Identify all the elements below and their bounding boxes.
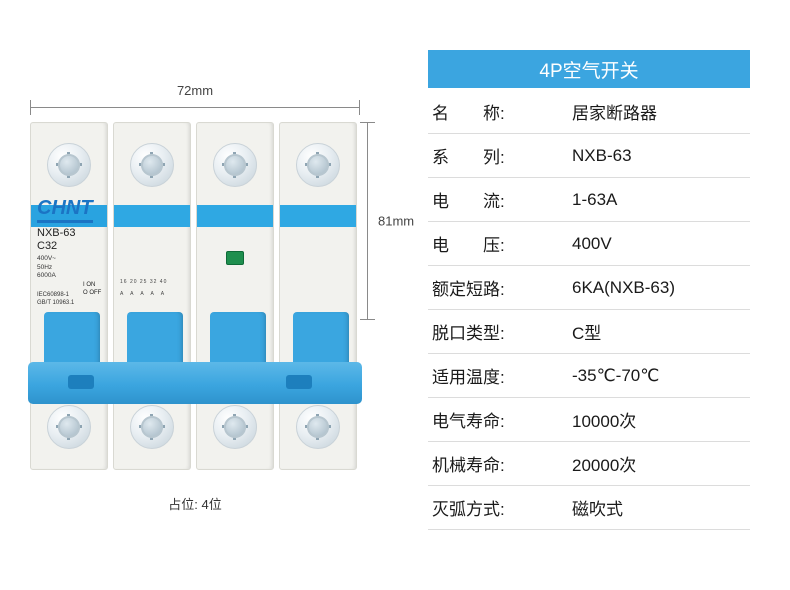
spec-key: 系 列: [428,134,560,178]
lever-tie-bar [28,362,362,404]
screw-cross-bottom-icon [139,414,165,440]
spec-value: 6KA(NXB-63) [560,266,750,310]
height-dimension-line [367,122,368,320]
spec-row: 电气寿命:10000次 [428,398,750,442]
screw-cross-icon [222,152,248,178]
spec-key: 适用温度: [428,354,560,398]
breaker-pole-4 [279,122,357,470]
spec-row: 灭弧方式:磁吹式 [428,486,750,530]
spec-row: 适用温度:-35℃-70℃ [428,354,750,398]
brand-logo-text: CHNT [37,197,93,223]
spec-row: 系 列:NXB-63 [428,134,750,178]
spec-key: 机械寿命: [428,442,560,486]
screw-cross-bottom-icon [222,414,248,440]
spec-row: 名 称:居家断路器 [428,90,750,134]
standards-text: IEC60898-1 GB/T 10963.1 [37,291,74,307]
electrical-specs-text: 400V~ 50Hz 6000A [37,255,56,281]
rating-code: C32 [37,240,76,253]
width-dimension: 72mm [30,100,360,114]
spec-row: 脱口类型:C型 [428,310,750,354]
width-dimension-cap-left [30,100,31,115]
brand-logo: CHNT [37,197,93,220]
terminal-screw-bottom-icon [47,405,91,449]
terminal-screw-icon [47,143,91,187]
page-root: 72mm 81mm CHNT NXB-63 C32 CCC 400V~ [0,0,790,590]
spec-value: 磁吹式 [560,486,750,530]
spec-value: 居家断路器 [560,90,750,134]
breaker-pole-1: CHNT NXB-63 C32 CCC 400V~ 50Hz 6000A IEC… [30,122,108,470]
height-dimension-cap-bottom [360,319,375,320]
spec-key: 脱口类型: [428,310,560,354]
spec-value: NXB-63 [560,134,750,178]
screw-cross-bottom-icon [305,414,331,440]
spec-panel-title: 4P空气开关 [428,50,750,88]
status-indicator [226,251,244,265]
width-dimension-label: 72mm [171,83,219,98]
pole-blue-band [280,205,356,227]
spec-key: 电气寿命: [428,398,560,442]
model-number: NXB-63 [37,227,76,240]
terminal-screw-icon [296,143,340,187]
spec-key: 名 称: [428,90,560,134]
on-off-marking: I ON O OFF [83,281,101,297]
circuit-breaker-image: CHNT NXB-63 C32 CCC 400V~ 50Hz 6000A IEC… [30,122,360,470]
spec-key: 电 流: [428,178,560,222]
spec-value: C型 [560,310,750,354]
width-dimension-cap-right [359,100,360,115]
spec-value: 20000次 [560,442,750,486]
spec-panel: 4P空气开关 名 称:居家断路器系 列:NXB-63电 流:1-63A电 压:4… [428,50,750,530]
terminal-screw-bottom-icon [213,405,257,449]
spec-row: 额定短路:6KA(NXB-63) [428,266,750,310]
terminal-screw-bottom-icon [130,405,174,449]
tie-bar-notch [68,375,94,389]
spec-row: 电 压:400V [428,222,750,266]
model-text: NXB-63 C32 [37,227,76,253]
spec-value: 10000次 [560,398,750,442]
spec-key: 额定短路: [428,266,560,310]
spec-value: 1-63A [560,178,750,222]
current-scale-top: 16 20 25 32 40 [120,279,167,285]
terminal-screw-icon [213,143,257,187]
terminal-screw-bottom-icon [296,405,340,449]
off-label: O OFF [83,289,101,297]
tie-bar-notch [286,375,312,389]
pole-blue-band [197,205,273,227]
product-illustration: 72mm 81mm CHNT NXB-63 C32 CCC 400V~ [0,0,430,590]
breaker-pole-2: 16 20 25 32 40 A A A A A [113,122,191,470]
screw-cross-bottom-icon [56,414,82,440]
current-scale-bottom: A A A A A [120,291,167,297]
breaker-pole-3 [196,122,274,470]
spec-value: 400V [560,222,750,266]
screw-cross-icon [305,152,331,178]
spec-table-body: 名 称:居家断路器系 列:NXB-63电 流:1-63A电 压:400V额定短路… [428,90,750,530]
on-label: I ON [83,281,101,289]
spec-table: 名 称:居家断路器系 列:NXB-63电 流:1-63A电 压:400V额定短路… [428,90,750,530]
occupancy-caption: 占位: 4位 [30,494,360,513]
screw-cross-icon [139,152,165,178]
spec-key: 电 压: [428,222,560,266]
spec-key: 灭弧方式: [428,486,560,530]
spec-row: 电 流:1-63A [428,178,750,222]
height-dimension-label: 81mm [378,214,414,229]
pole-blue-band [114,205,190,227]
terminal-screw-icon [130,143,174,187]
spec-row: 机械寿命:20000次 [428,442,750,486]
screw-cross-icon [56,152,82,178]
spec-value: -35℃-70℃ [560,354,750,398]
height-dimension: 81mm [360,122,374,320]
width-dimension-line [30,107,360,108]
height-dimension-cap-top [360,122,375,123]
